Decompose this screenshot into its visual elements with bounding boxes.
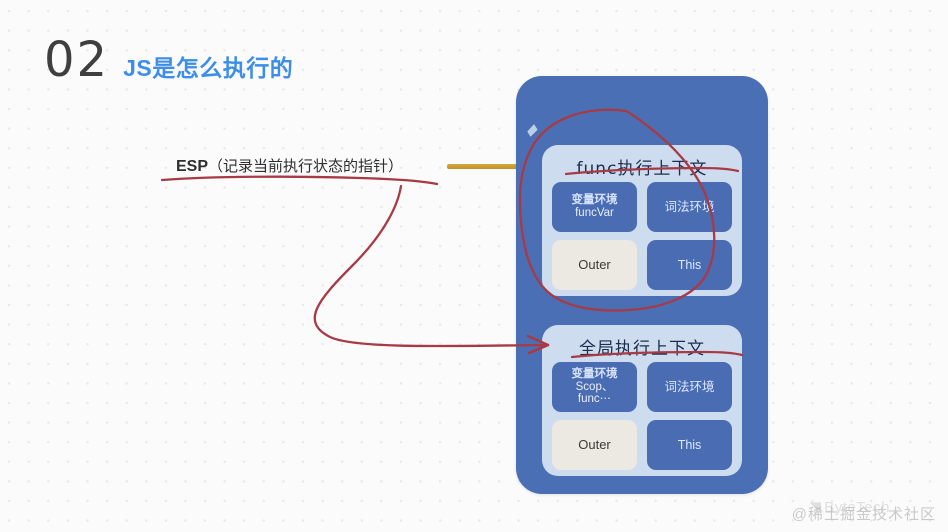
cell-outer: Outer: [552, 420, 637, 470]
site-watermark: @稀土掘金技术社区: [792, 503, 936, 524]
cell-label: This: [678, 438, 702, 452]
page-title: JS是怎么执行的: [123, 49, 293, 83]
cell-label: Outer: [578, 258, 611, 273]
cell-this: This: [647, 240, 732, 290]
esp-note: （记录当前执行状态的指针）: [208, 158, 403, 175]
cell-label: 词法环境: [664, 200, 714, 214]
esp-underline-stroke: [162, 177, 437, 184]
pen-cursor-icon: [526, 123, 539, 138]
cell-line-3: func⋯: [578, 393, 611, 406]
slide-header: 02 JS是怎么执行的: [44, 36, 293, 84]
cell-this: This: [647, 420, 732, 470]
cell-label: This: [678, 258, 702, 272]
cell-variable-environment: 变量环境 Scop、 func⋯: [552, 362, 637, 412]
section-number: 02: [44, 36, 109, 84]
cell-line-1: 变量环境: [572, 194, 618, 207]
slide-canvas: 02 JS是怎么执行的 ESP（记录当前执行状态的指针） func执行上下文 变…: [0, 0, 948, 532]
cell-label: 词法环境: [664, 380, 714, 394]
esp-pointer-curve: [315, 186, 545, 346]
frame-cells: 变量环境 funcVar 词法环境 Outer This: [552, 182, 732, 290]
execution-context-frame-global: 全局执行上下文 变量环境 Scop、 func⋯ 词法环境 Outer This: [542, 325, 742, 476]
cell-label: Outer: [578, 438, 611, 453]
cell-line-1: 变量环境: [572, 368, 618, 381]
cell-lexical-environment: 词法环境: [647, 182, 732, 232]
esp-label: ESP: [176, 158, 208, 175]
frame-cells: 变量环境 Scop、 func⋯ 词法环境 Outer This: [552, 362, 732, 470]
cell-outer: Outer: [552, 240, 637, 290]
call-stack-card: func执行上下文 变量环境 funcVar 词法环境 Outer This 全…: [516, 76, 768, 494]
cell-variable-environment: 变量环境 funcVar: [552, 182, 637, 232]
esp-annotation-label: ESP（记录当前执行状态的指针）: [176, 155, 403, 176]
execution-context-frame-func: func执行上下文 变量环境 funcVar 词法环境 Outer This: [542, 145, 742, 296]
cell-line-2: funcVar: [575, 207, 614, 220]
frame-title: func执行上下文: [542, 145, 742, 179]
cell-lexical-environment: 词法环境: [647, 362, 732, 412]
frame-title: 全局执行上下文: [542, 325, 742, 359]
cell-line-2: Scop、: [576, 381, 614, 394]
